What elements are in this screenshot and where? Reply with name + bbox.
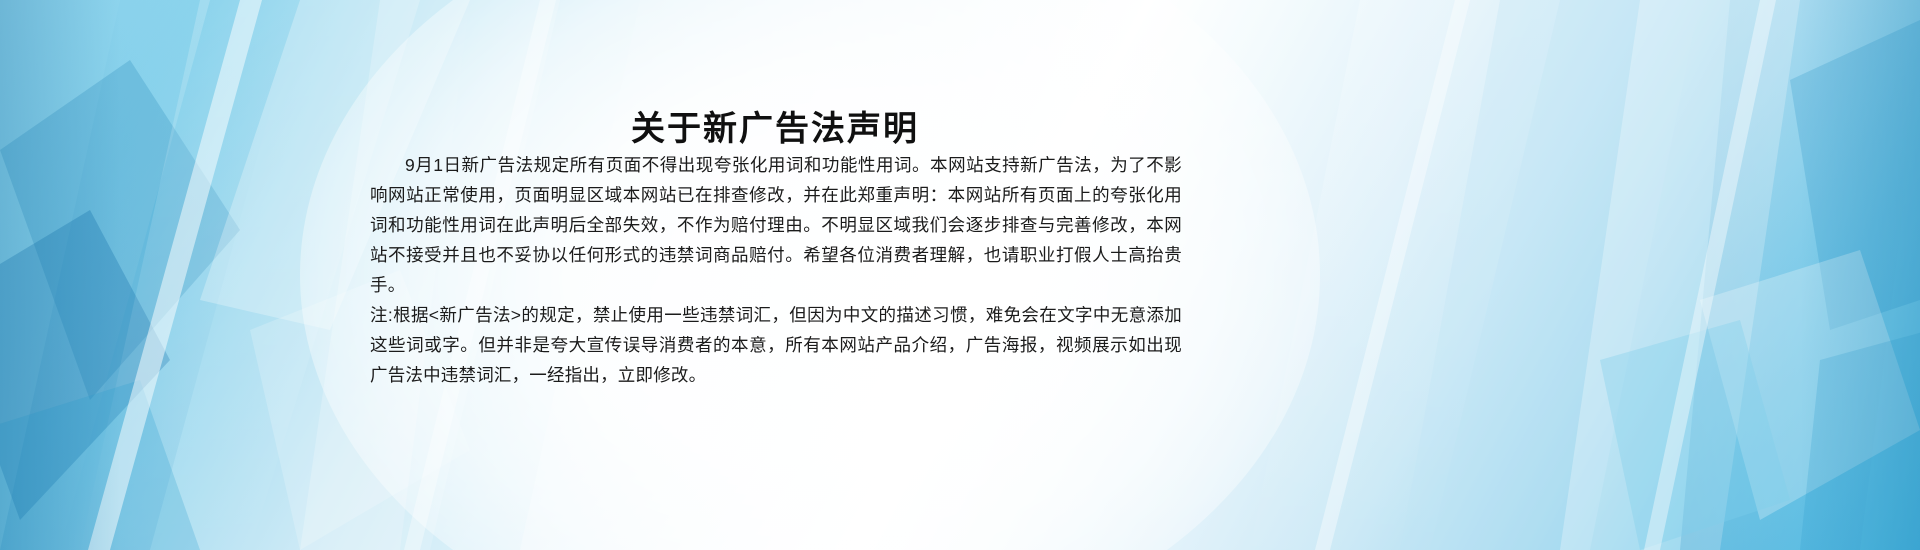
page-title: 关于新广告法声明 (370, 109, 1180, 150)
statement-paragraph-1: 9月1日新广告法规定所有页面不得出现夸张化用词和功能性用词。本网站支持新广告法，… (370, 150, 1182, 300)
statement-paragraph-2: 注:根据<新广告法>的规定，禁止使用一些违禁词汇，但因为中文的描述习惯，难免会在… (370, 300, 1182, 390)
statement-content: 关于新广告法声明 9月1日新广告法规定所有页面不得出现夸张化用词和功能性用词。本… (0, 0, 1920, 550)
statement-body: 9月1日新广告法规定所有页面不得出现夸张化用词和功能性用词。本网站支持新广告法，… (370, 150, 1182, 390)
advertising-law-statement-banner: 关于新广告法声明 9月1日新广告法规定所有页面不得出现夸张化用词和功能性用词。本… (0, 0, 1920, 550)
